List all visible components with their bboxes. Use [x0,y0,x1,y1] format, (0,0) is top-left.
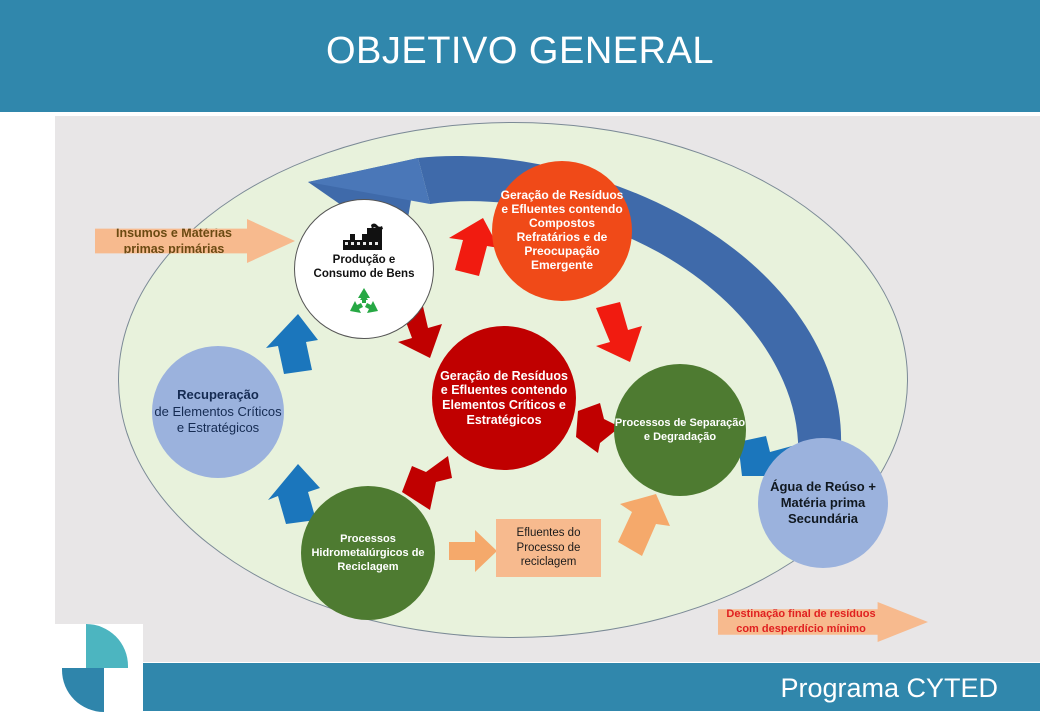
recycle-icon [347,286,381,316]
node-recovery-title: Recuperação [177,387,259,404]
arrow-recovery-to-production [262,312,322,378]
factory-icon [341,222,387,252]
node-separation-processes: Processos de Separação e Degradação [614,364,746,496]
node-reuse-water: Água de Reúso + Matéria prima Secundária [758,438,888,568]
arrow-hydrometallurgy-to-effluents [447,528,499,574]
banner-disposal-line2: com desperdício mínimo [726,622,875,637]
node-waste-critical: Geração de Resíduos e Efluentes contendo… [432,326,576,470]
node-waste-refractory: Geração de Resíduos e Efluentes contendo… [492,161,632,301]
node-hydrometallurgy-processes: Processos Hidrometalúrgicos de Reciclage… [301,486,435,620]
banner-disposal-line1: Destinação final de resíduos [726,607,875,622]
node-recovery-subtitle: de Elementos Críticos e Estratégicos [152,404,284,437]
node-recovery: Recuperação de Elementos Críticos e Estr… [152,346,284,478]
node-production-line1: Produção e [314,254,415,267]
arrow-effluents-to-separation [614,492,674,562]
node-production-line2: Consumo de Bens [314,268,415,281]
node-production: Produção e Consumo de Bens [294,199,434,339]
arrow-refractory-to-separation [590,300,652,372]
slide: OBJETIVO GENERAL [0,0,1040,720]
footer-title: Programa CYTED [780,673,998,704]
logo-quarter-dark-icon [62,668,104,712]
logo-quarter-light-icon [86,624,128,668]
page-title: OBJETIVO GENERAL [0,30,1040,73]
cyted-logo [62,620,142,710]
node-effluents-box: Efluentes do Processo de reciclagem [496,519,601,577]
